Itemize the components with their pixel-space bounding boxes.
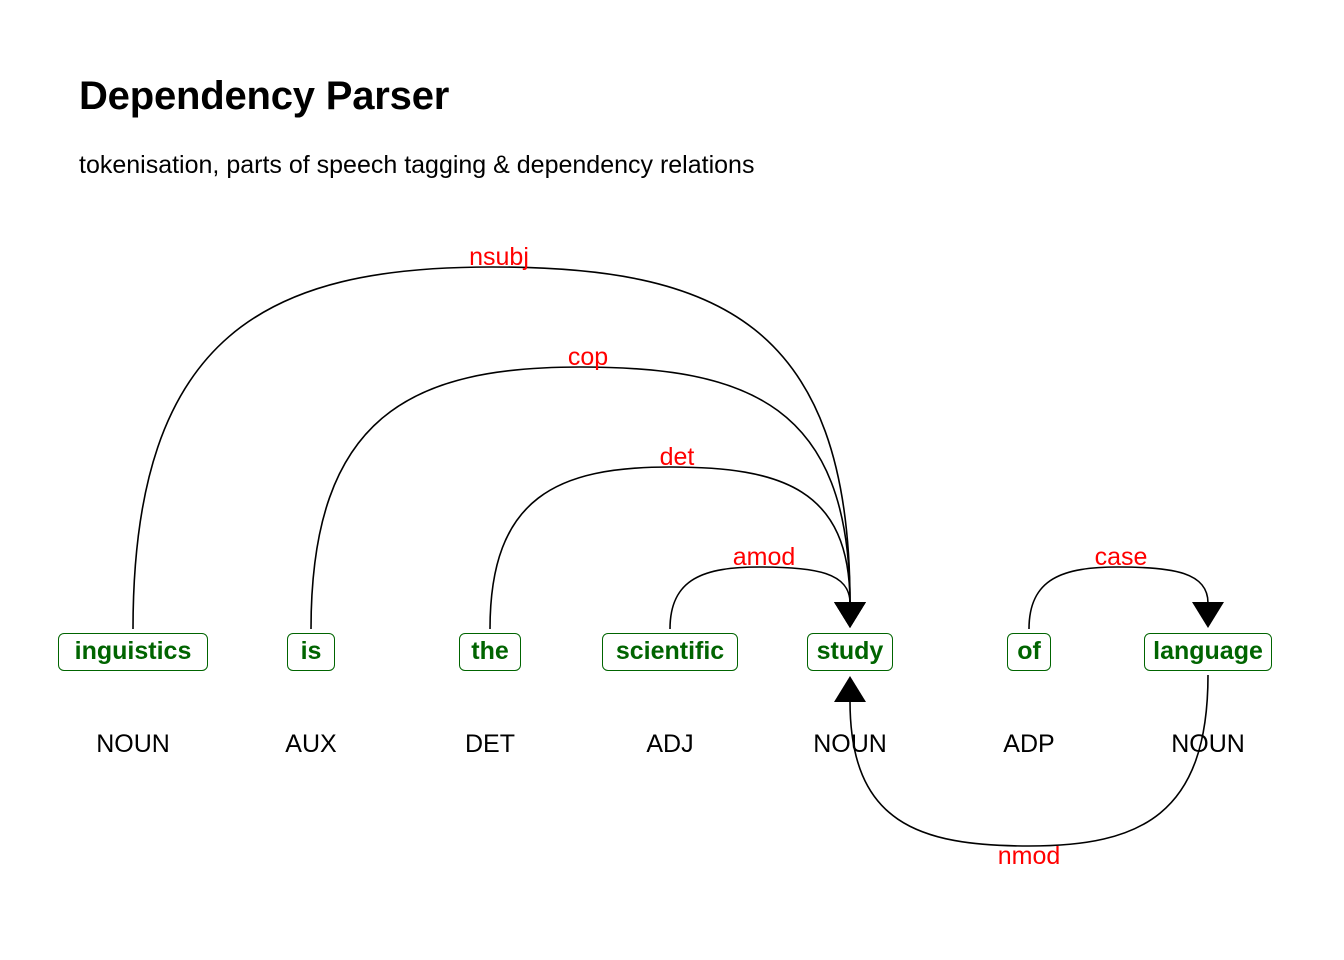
token-box[interactable]: scientific — [602, 633, 738, 671]
relation-label: nmod — [998, 842, 1061, 871]
pos-tag: DET — [465, 730, 515, 759]
dependency-arc — [850, 675, 1208, 846]
token-box[interactable]: of — [1007, 633, 1051, 671]
dependency-arc — [670, 567, 850, 629]
relation-label: det — [660, 443, 695, 472]
pos-tag: AUX — [285, 730, 336, 759]
dependency-parse-canvas: Dependency Parser tokenisation, parts of… — [0, 0, 1344, 960]
pos-tag: NOUN — [813, 730, 887, 759]
pos-tag: NOUN — [1171, 730, 1245, 759]
token-box[interactable]: is — [287, 633, 335, 671]
relation-label: nsubj — [469, 243, 529, 272]
relation-label: case — [1095, 543, 1148, 572]
arc-arrowhead — [834, 676, 866, 702]
dependency-arc — [311, 367, 850, 629]
pos-tag: ADP — [1003, 730, 1054, 759]
token-box[interactable]: language — [1144, 633, 1272, 671]
arc-arrowhead — [834, 602, 866, 628]
relation-label: amod — [733, 543, 796, 572]
dependency-arc — [1029, 567, 1208, 629]
arc-arrowhead — [1192, 602, 1224, 628]
dependency-arc — [133, 267, 850, 629]
token-box[interactable]: inguistics — [58, 633, 208, 671]
token-box[interactable]: study — [807, 633, 893, 671]
pos-tag: NOUN — [96, 730, 170, 759]
dependency-arc-layer — [0, 0, 1344, 960]
pos-tag: ADJ — [646, 730, 693, 759]
relation-label: cop — [568, 343, 608, 372]
dependency-arc — [490, 467, 850, 629]
token-box[interactable]: the — [459, 633, 521, 671]
